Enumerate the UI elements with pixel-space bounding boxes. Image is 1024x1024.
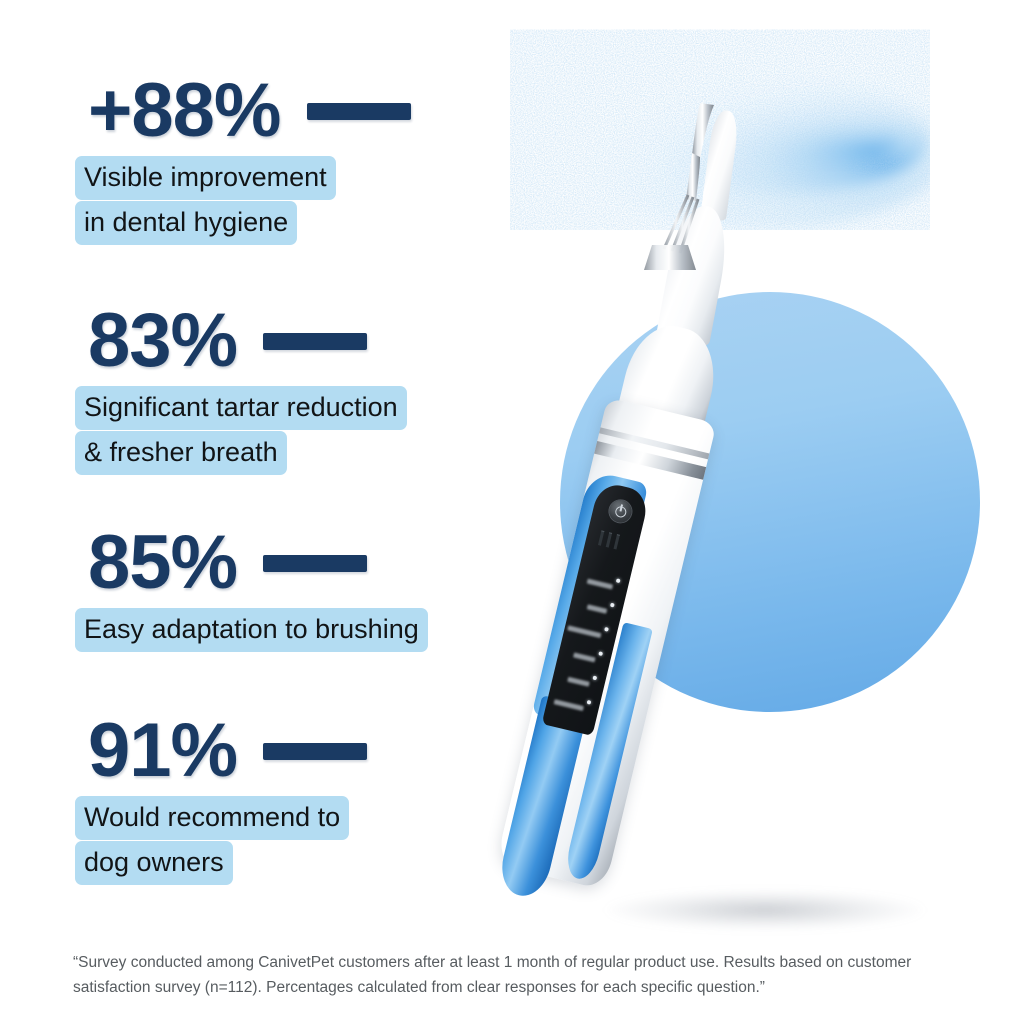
stat-description: Visible improvement in dental hygiene [75, 156, 560, 245]
power-button[interactable] [607, 498, 634, 525]
infographic-canvas: +88% Visible improvement in dental hygie… [0, 0, 1024, 1024]
stat-dash-icon [263, 333, 367, 350]
stat-figure: +88% [88, 72, 560, 150]
stat-figure: 85% [88, 524, 560, 602]
mode-led-icon [592, 676, 597, 681]
power-icon [614, 505, 627, 518]
mode-led-icon [610, 603, 615, 608]
stat-description: Significant tartar reduction & fresher b… [75, 386, 560, 475]
stat-dash-icon [263, 743, 367, 760]
stat-dash-icon [263, 555, 367, 572]
stat-description-line: & fresher breath [75, 431, 287, 475]
stat-block: 85% Easy adaptation to brushing [0, 524, 560, 653]
stat-block: 83% Significant tartar reduction & fresh… [0, 302, 560, 476]
stat-block: +88% Visible improvement in dental hygie… [0, 72, 560, 246]
level-indicator-icon [598, 530, 631, 553]
mode-label-blur [554, 699, 584, 711]
stat-description-line: in dental hygiene [75, 201, 297, 245]
stat-value: 91% [88, 712, 237, 790]
mode-label-blur [587, 579, 613, 590]
stat-description: Easy adaptation to brushing [75, 608, 560, 652]
mode-led-icon [587, 700, 592, 705]
mode-label-blur [567, 677, 590, 687]
product-image [500, 0, 1024, 960]
mode-led-icon [604, 627, 609, 632]
stat-description-line: dog owners [75, 841, 233, 885]
mode-led-icon [616, 578, 621, 583]
stat-description-line: Would recommend to [75, 796, 349, 840]
mode-label-blur [573, 652, 596, 662]
stat-figure: 83% [88, 302, 560, 380]
footnote-text: “Survey conducted among CanivetPet custo… [73, 950, 953, 1000]
stat-dash-icon [307, 103, 411, 120]
stat-value: +88% [88, 72, 281, 150]
stat-value: 85% [88, 524, 237, 602]
stat-value: 83% [88, 302, 237, 380]
mode-label-blur [567, 625, 601, 638]
mode-label-blur [587, 604, 608, 614]
mode-led-icon [598, 651, 603, 656]
scaler-tip-icon [630, 95, 750, 270]
stat-description-line: Easy adaptation to brushing [75, 608, 428, 652]
device-drop-shadow [605, 890, 925, 930]
stat-description-line: Visible improvement [75, 156, 336, 200]
stat-description-line: Significant tartar reduction [75, 386, 407, 430]
